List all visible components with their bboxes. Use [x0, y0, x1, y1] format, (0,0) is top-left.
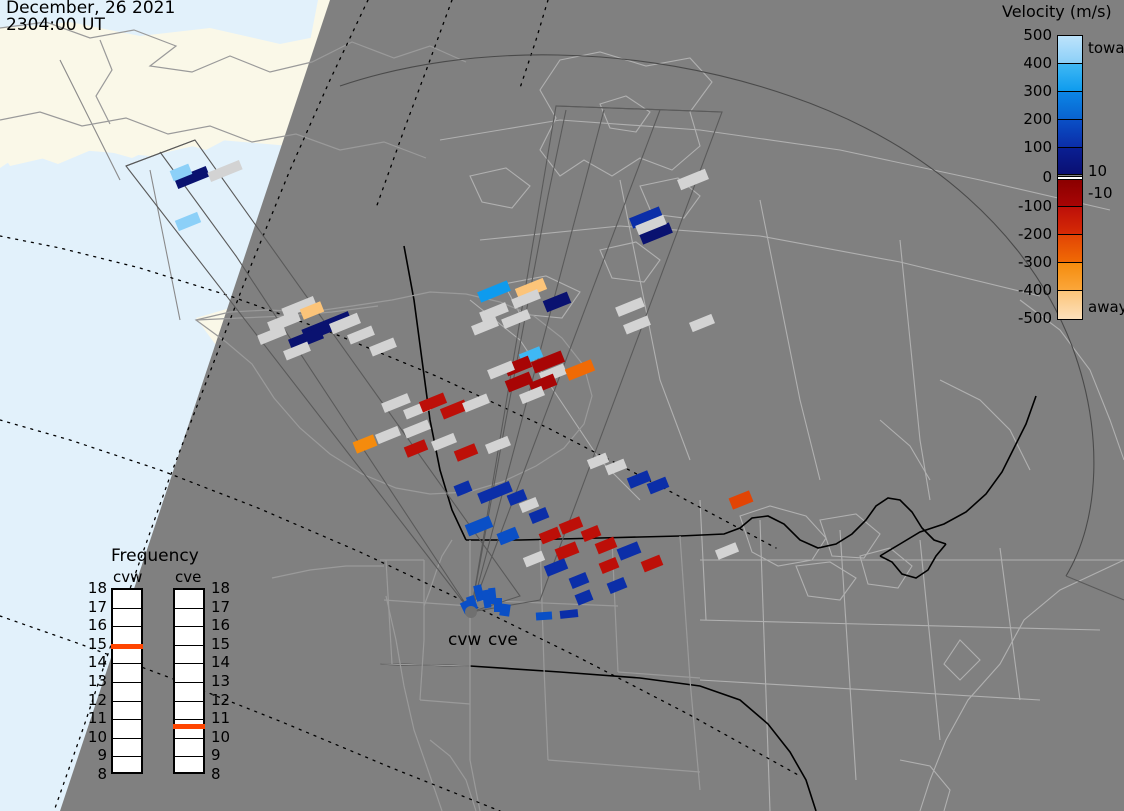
radar-label-cve: cve: [488, 630, 518, 650]
colorbar-segment: [1058, 235, 1082, 263]
colorbar-label-neg-threshold: -10: [1088, 184, 1113, 202]
frequency-cell: [113, 739, 141, 758]
colorbar-tick-label: 0: [1004, 168, 1052, 186]
colorbar-label-pos-threshold: 10: [1088, 162, 1107, 180]
colorbar-strip: [1057, 35, 1083, 320]
frequency-tick-label: 10: [83, 728, 107, 746]
colorbar-tick-label: 500: [1004, 26, 1052, 44]
colorbar-segment: [1058, 36, 1082, 64]
frequency-bar-cvw: [111, 588, 143, 774]
frequency-tick-label: 12: [211, 691, 230, 709]
frequency-tick-label: 13: [211, 672, 230, 690]
colorbar-label-toward: toward: [1088, 39, 1124, 57]
frequency-tick-label: 8: [211, 765, 221, 783]
frequency-tick-label: 14: [83, 653, 107, 671]
colorbar-segment: [1058, 120, 1082, 148]
colorbar-tick-label: -200: [1004, 225, 1052, 243]
colorbar-title: Velocity (m/s): [1002, 2, 1112, 21]
frequency-tick-label: 11: [211, 709, 230, 727]
frequency-cell: [175, 646, 203, 665]
frequency-tick-label: 13: [83, 672, 107, 690]
frequency-tick-label: 15: [211, 635, 230, 653]
colorbar-tick-label: 200: [1004, 110, 1052, 128]
frequency-tick-label: 10: [211, 728, 230, 746]
frequency-cell: [113, 590, 141, 609]
frequency-bar-cve: [173, 588, 205, 774]
colorbar-segment: [1058, 148, 1082, 176]
frequency-tick-label: 17: [83, 598, 107, 616]
colorbar-segment: [1058, 207, 1082, 235]
frequency-title: Frequency: [111, 546, 199, 566]
colorbar-segment: [1058, 263, 1082, 291]
colorbar-segment: [1058, 291, 1082, 319]
frequency-cell: [175, 627, 203, 646]
frequency-marker-cvw: [111, 644, 143, 649]
frequency-tick-label: 18: [211, 579, 230, 597]
radar-site-layer: [0, 0, 1124, 811]
colorbar-tick-label: -400: [1004, 281, 1052, 299]
colorbar-tick-label: 400: [1004, 54, 1052, 72]
colorbar-tick-label: 300: [1004, 82, 1052, 100]
frequency-tick-label: 17: [211, 598, 230, 616]
frequency-tick-label: 16: [83, 616, 107, 634]
frequency-tick-label: 18: [83, 579, 107, 597]
frequency-cell: [113, 683, 141, 702]
frequency-cell: [175, 739, 203, 758]
frequency-radar-name: cve: [175, 568, 201, 586]
frequency-tick-label: 14: [211, 653, 230, 671]
frequency-cell: [113, 757, 141, 776]
timestamp-time: 2304:00 UT: [6, 17, 175, 34]
radar-site-dot: [465, 606, 477, 618]
frequency-cell: [175, 664, 203, 683]
superdarn-map-figure: cvw cve December, 26 2021 2304:00 UT Vel…: [0, 0, 1124, 811]
colorbar-segment: [1058, 92, 1082, 120]
frequency-cell: [113, 720, 141, 739]
frequency-tick-label: 11: [83, 709, 107, 727]
radar-label-cvw: cvw: [448, 630, 481, 650]
frequency-tick-label: 9: [211, 746, 221, 764]
colorbar-tick-label: -300: [1004, 253, 1052, 271]
frequency-cell: [175, 590, 203, 609]
colorbar-tick-label: -500: [1004, 309, 1052, 327]
frequency-cell: [175, 757, 203, 776]
frequency-cell: [175, 683, 203, 702]
frequency-cell: [113, 664, 141, 683]
frequency-tick-label: 15: [83, 635, 107, 653]
colorbar-tick-label: 100: [1004, 138, 1052, 156]
colorbar-tick-label: -100: [1004, 197, 1052, 215]
colorbar-zero-gap: [1058, 176, 1082, 180]
frequency-radar-name: cvw: [113, 568, 142, 586]
timestamp-block: December, 26 2021 2304:00 UT: [6, 0, 175, 34]
colorbar-segment: [1058, 180, 1082, 208]
frequency-cell: [113, 702, 141, 721]
frequency-cell: [175, 609, 203, 628]
frequency-tick-label: 8: [83, 765, 107, 783]
frequency-tick-label: 9: [83, 746, 107, 764]
frequency-cell: [113, 609, 141, 628]
frequency-tick-label: 16: [211, 616, 230, 634]
frequency-cell: [175, 702, 203, 721]
colorbar-segment: [1058, 64, 1082, 92]
colorbar-label-away: away: [1088, 298, 1124, 316]
frequency-tick-label: 12: [83, 691, 107, 709]
frequency-marker-cve: [173, 724, 205, 729]
